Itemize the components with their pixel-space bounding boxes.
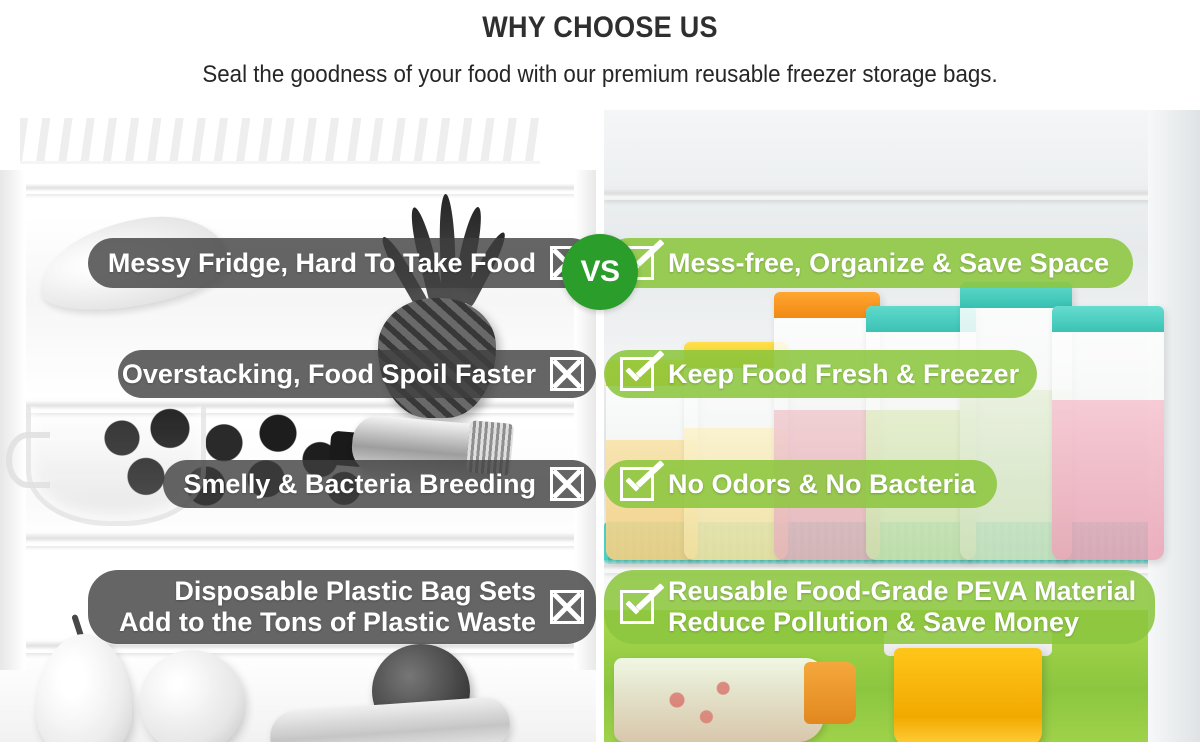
organized-fridge-photo <box>604 110 1200 742</box>
negative-row-4[interactable]: Disposable Plastic Bag Sets Add to the T… <box>88 570 596 644</box>
x-mark-icon <box>550 590 584 624</box>
vs-badge-label: VS <box>580 255 619 289</box>
glass-bowl-handle <box>6 432 50 488</box>
yellow-container <box>894 648 1042 742</box>
check-mark-icon <box>620 467 654 501</box>
positive-row-3[interactable]: No Odors & No Bacteria <box>604 460 997 508</box>
negative-row-1[interactable]: Messy Fridge, Hard To Take Food <box>88 238 596 288</box>
positive-row-2[interactable]: Keep Food Fresh & Freezer <box>604 350 1037 398</box>
negative-row-4-line1: Disposable Plastic Bag Sets <box>174 576 536 606</box>
check-mark-icon <box>620 590 654 624</box>
fridge-shelf <box>0 532 596 546</box>
fridge-shelf <box>604 188 1200 200</box>
positive-row-4-label: Reusable Food-Grade PEVA Material Reduce… <box>668 576 1136 638</box>
positive-row-1-label: Mess-free, Organize & Save Space <box>668 248 1109 279</box>
negative-row-3-label: Smelly & Bacteria Breeding <box>183 469 536 500</box>
page-title: WHY CHOOSE US <box>60 11 1140 45</box>
header-banner: WHY CHOOSE US Seal the goodness of your … <box>0 0 1200 110</box>
positive-row-3-label: No Odors & No Bacteria <box>668 469 976 500</box>
comparison-panel-negative: Messy Fridge, Hard To Take Food Overstac… <box>0 110 596 742</box>
positive-row-4-line2: Reduce Pollution & Save Money <box>668 607 1136 638</box>
positive-row-4-line1: Reusable Food-Grade PEVA Material <box>668 576 1136 606</box>
negative-row-2-label: Overstacking, Food Spoil Faster <box>122 359 536 390</box>
fridge-side-rail <box>0 170 26 670</box>
storage-bag <box>774 292 880 560</box>
vs-badge: VS <box>562 234 638 310</box>
negative-row-4-label: Disposable Plastic Bag Sets Add to the T… <box>119 576 536 638</box>
page-subtitle: Seal the goodness of your food with our … <box>42 60 1158 90</box>
positive-row-2-label: Keep Food Fresh & Freezer <box>668 359 1019 390</box>
fridge-shelf <box>0 183 596 194</box>
messy-fridge-photo <box>0 110 596 742</box>
negative-row-3[interactable]: Smelly & Bacteria Breeding <box>163 460 596 508</box>
comparison-stage: Messy Fridge, Hard To Take Food Overstac… <box>0 110 1200 742</box>
check-mark-icon <box>620 357 654 391</box>
storage-bag <box>1052 306 1164 560</box>
negative-row-1-label: Messy Fridge, Hard To Take Food <box>108 248 536 279</box>
x-mark-icon <box>550 357 584 391</box>
negative-row-4-line2: Add to the Tons of Plastic Waste <box>119 607 536 638</box>
x-mark-icon <box>550 467 584 501</box>
positive-row-1[interactable]: Mess-free, Organize & Save Space <box>604 238 1133 288</box>
storage-bag-spout <box>804 662 856 724</box>
comparison-panel-positive: Mess-free, Organize & Save Space Keep Fo… <box>604 110 1200 742</box>
fridge-vent-grille <box>20 118 540 164</box>
positive-row-4[interactable]: Reusable Food-Grade PEVA Material Reduce… <box>604 570 1155 644</box>
storage-bag-flat <box>614 658 824 742</box>
negative-row-2[interactable]: Overstacking, Food Spoil Faster <box>118 350 596 398</box>
